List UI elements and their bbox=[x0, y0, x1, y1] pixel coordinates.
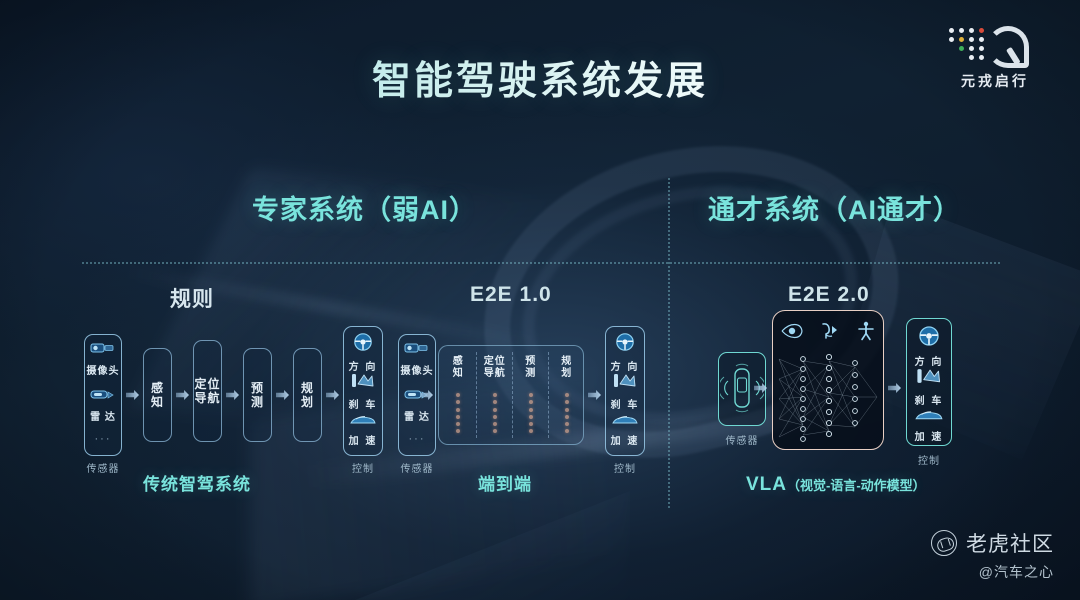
deeproute-dot-matrix-r-logo bbox=[949, 24, 1041, 68]
brake-pedal-icon bbox=[916, 367, 942, 386]
e2e1-unified-model-box[interactable]: 感 知 定位 导航 预 测 bbox=[438, 345, 584, 445]
car-side-icon bbox=[611, 414, 639, 426]
e2e1-column-prediction: 预 测 bbox=[513, 346, 550, 444]
rule-module-prediction-label: 预 测 bbox=[244, 381, 271, 409]
rule-arrow-4 bbox=[276, 390, 289, 400]
e2e1-column-perception: 感 知 bbox=[440, 346, 477, 444]
e2e1-sensor-camera: 摄像头 bbox=[399, 341, 435, 377]
brake-pedal-icon bbox=[613, 372, 637, 390]
rule-control-accel: 加 速 bbox=[344, 413, 382, 447]
watermark-handle: @汽车之心 bbox=[931, 562, 1054, 582]
char: 预 bbox=[244, 381, 271, 395]
char: 规 bbox=[294, 381, 321, 395]
e2e1-control-accel-label: 加 速 bbox=[606, 432, 644, 447]
e2e1-arrow-out bbox=[588, 390, 601, 400]
rule-module-planning-label: 规 划 bbox=[294, 381, 321, 409]
e2e2-control-box[interactable]: 方 向 刹 车 加 速 bbox=[906, 318, 952, 446]
e2e2-vla-model-box[interactable] bbox=[772, 310, 884, 450]
page-title: 智能驾驶系统发展 bbox=[0, 50, 1080, 106]
e2e2-control-brake: 刹 车 bbox=[907, 367, 951, 407]
stage-title-rule: 规则 bbox=[170, 283, 214, 313]
e2e1-column-prediction-label: 预 测 bbox=[513, 356, 550, 380]
char: 预 bbox=[513, 356, 550, 368]
char: 知 bbox=[144, 395, 171, 409]
e2e1-control-box[interactable]: 方 向 刹 车 加 速 bbox=[605, 326, 645, 456]
e2e1-column-planning: 规 划 bbox=[549, 346, 585, 444]
section-header-expert: 专家系统（弱AI） bbox=[252, 188, 477, 227]
rule-arrow-2 bbox=[176, 390, 189, 400]
e2e1-column-planning-label: 规 划 bbox=[549, 356, 585, 380]
e2e2-control-steering: 方 向 bbox=[907, 325, 951, 368]
e2e1-node-chain bbox=[440, 390, 477, 436]
brake-pedal-icon bbox=[351, 372, 375, 390]
char: 划 bbox=[294, 395, 321, 409]
e2e2-control-accel-label: 加 速 bbox=[907, 428, 951, 443]
neural-network-icon bbox=[773, 349, 884, 445]
rule-control-steering-label: 方 向 bbox=[344, 358, 382, 373]
e2e1-sensor-camera-label: 摄像头 bbox=[399, 362, 435, 377]
rule-module-perception[interactable]: 感 知 bbox=[143, 348, 172, 442]
e2e1-control-brake-label: 刹 车 bbox=[606, 396, 644, 411]
rule-module-perception-label: 感 知 bbox=[144, 381, 171, 409]
rule-module-localization-label: 定位 导航 bbox=[194, 377, 221, 405]
steering-wheel-icon bbox=[615, 332, 635, 352]
caption-vla: VLA（视觉-语言-动作模型） bbox=[746, 474, 926, 496]
rule-control-steering: 方 向 bbox=[344, 332, 382, 373]
rule-sensor-radar: 雷 达 bbox=[85, 387, 121, 423]
char: 定位 bbox=[477, 356, 514, 368]
watermark: 老虎社区 @汽车之心 bbox=[931, 528, 1054, 582]
e2e1-column-perception-label: 感 知 bbox=[440, 356, 477, 380]
rule-arrow-3 bbox=[226, 390, 239, 400]
action-figure-icon bbox=[857, 321, 875, 341]
horizontal-divider bbox=[82, 262, 1000, 264]
char: 知 bbox=[440, 368, 477, 380]
speech-icon bbox=[820, 321, 840, 341]
char: 划 bbox=[549, 368, 585, 380]
rule-arrow-1 bbox=[126, 390, 139, 400]
rule-control-accel-label: 加 速 bbox=[344, 432, 382, 447]
watermark-main: 老虎社区 bbox=[931, 528, 1054, 558]
char: 导航 bbox=[194, 391, 221, 405]
slide-canvas: 智能驾驶系统发展 元戎启行 专 bbox=[0, 0, 1080, 600]
e2e1-sensor-caption: 传感器 bbox=[394, 460, 440, 475]
char: 感 bbox=[440, 356, 477, 368]
e2e2-control-steering-label: 方 向 bbox=[907, 353, 951, 368]
e2e1-control-brake: 刹 车 bbox=[606, 372, 644, 411]
rule-control-box[interactable]: 方 向 刹 车 加 速 bbox=[343, 326, 383, 456]
rule-control-brake: 刹 车 bbox=[344, 372, 382, 411]
caption-vla-sub: （视觉-语言-动作模型） bbox=[787, 478, 926, 493]
e2e1-sensor-radar-label: 雷 达 bbox=[399, 408, 435, 423]
car-side-icon bbox=[349, 414, 377, 426]
caption-vla-main: VLA bbox=[746, 474, 787, 495]
rule-sensor-radar-label: 雷 达 bbox=[85, 408, 121, 423]
caption-end-to-end: 端到端 bbox=[478, 470, 532, 495]
e2e2-control-brake-label: 刹 车 bbox=[907, 392, 951, 407]
e2e1-control-accel: 加 速 bbox=[606, 413, 644, 447]
camera-icon bbox=[90, 341, 116, 355]
e2e1-control-steering: 方 向 bbox=[606, 332, 644, 373]
steering-wheel-icon bbox=[918, 325, 940, 347]
rule-module-prediction[interactable]: 预 测 bbox=[243, 348, 272, 442]
rule-module-planning[interactable]: 规 划 bbox=[293, 348, 322, 442]
vla-modality-icons bbox=[773, 321, 883, 341]
dot-matrix-icon bbox=[949, 28, 989, 66]
car-side-icon bbox=[914, 409, 944, 422]
caption-traditional-system: 传统智驾系统 bbox=[143, 470, 251, 495]
rule-sensor-more: ··· bbox=[85, 433, 121, 445]
e2e1-node-chain bbox=[549, 390, 585, 436]
stage-title-e2e-2-0: E2E 2.0 bbox=[788, 283, 870, 307]
brand-logo: 元戎启行 bbox=[936, 24, 1054, 91]
e2e1-sensor-more: ··· bbox=[399, 433, 435, 445]
rule-module-localization[interactable]: 定位 导航 bbox=[193, 340, 222, 442]
watermark-name: 老虎社区 bbox=[966, 528, 1054, 558]
rule-sensor-box[interactable]: 摄像头 雷 达 ··· bbox=[84, 334, 122, 456]
char: 规 bbox=[549, 356, 585, 368]
rule-sensor-camera: 摄像头 bbox=[85, 341, 121, 377]
e2e2-control-caption: 控制 bbox=[903, 452, 955, 467]
e2e1-control-steering-label: 方 向 bbox=[606, 358, 644, 373]
rule-control-caption: 控制 bbox=[340, 460, 386, 475]
rule-sensor-camera-label: 摄像头 bbox=[85, 362, 121, 377]
stage-title-e2e-1-0: E2E 1.0 bbox=[470, 283, 552, 307]
char: 定位 bbox=[194, 377, 221, 391]
e2e1-control-caption: 控制 bbox=[602, 460, 648, 475]
tiger-community-icon bbox=[931, 530, 957, 556]
char: 测 bbox=[244, 395, 271, 409]
char: 测 bbox=[513, 368, 550, 380]
logo-r-arc bbox=[987, 26, 1029, 68]
camera-icon bbox=[404, 341, 430, 355]
e2e1-node-chain bbox=[513, 390, 550, 436]
radar-icon bbox=[90, 387, 116, 401]
vertical-divider bbox=[668, 178, 670, 508]
char: 导航 bbox=[477, 368, 514, 380]
e2e1-column-localization: 定位 导航 bbox=[477, 346, 514, 444]
eye-icon bbox=[781, 323, 803, 339]
rule-control-brake-label: 刹 车 bbox=[344, 396, 382, 411]
e2e1-node-chain bbox=[477, 390, 514, 436]
rule-arrow-5 bbox=[326, 390, 339, 400]
e2e2-sensor-caption: 传感器 bbox=[715, 432, 769, 447]
e2e2-control-accel: 加 速 bbox=[907, 409, 951, 443]
section-header-general: 通才系统（AI通才） bbox=[708, 188, 961, 227]
char: 感 bbox=[144, 381, 171, 395]
rule-sensor-caption: 传感器 bbox=[80, 460, 126, 475]
steering-wheel-icon bbox=[353, 332, 373, 352]
e2e2-arrow-out bbox=[888, 383, 901, 393]
e2e1-column-localization-label: 定位 导航 bbox=[477, 356, 514, 380]
brand-name: 元戎启行 bbox=[936, 71, 1054, 91]
